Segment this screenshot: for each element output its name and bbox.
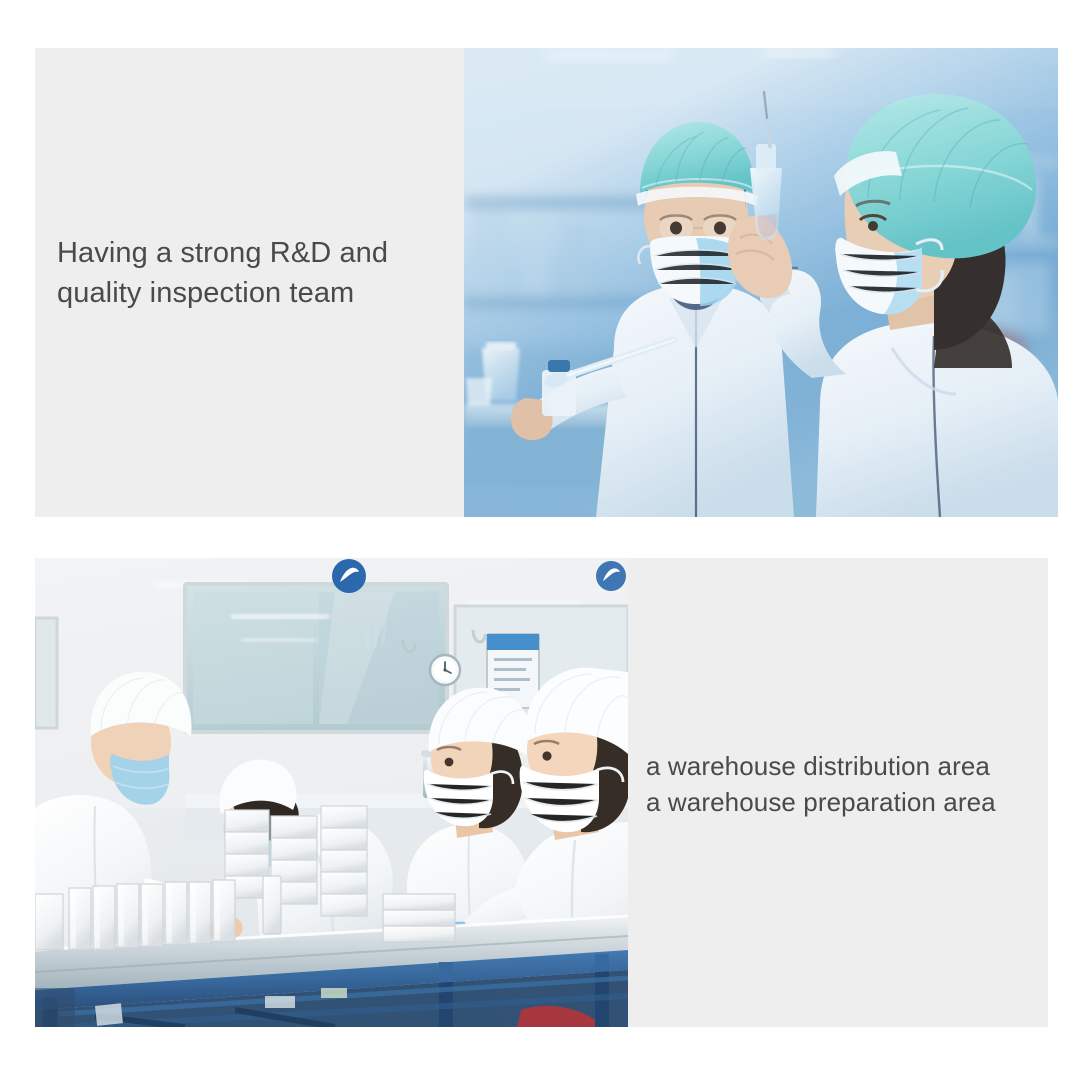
warehouse-packing-photo	[35, 558, 628, 1027]
lab-scene-illustration	[464, 48, 1058, 517]
warehouse-scene-illustration	[35, 558, 628, 1027]
bottom-feature-block: a warehouse distribution area a warehous…	[35, 558, 1048, 1027]
page-canvas: Having a strong R&D and quality inspecti…	[0, 0, 1080, 1080]
lab-scene-art	[464, 48, 1058, 517]
top-caption-panel: Having a strong R&D and quality inspecti…	[35, 48, 464, 517]
lab-quality-inspection-photo	[464, 48, 1058, 517]
bottom-caption-text: a warehouse distribution area a warehous…	[646, 748, 1046, 820]
top-caption-text: Having a strong R&D and quality inspecti…	[57, 233, 457, 313]
warehouse-scene-art	[35, 558, 628, 1027]
bottom-caption-panel: a warehouse distribution area a warehous…	[628, 558, 1048, 1027]
top-feature-block: Having a strong R&D and quality inspecti…	[35, 48, 1058, 517]
